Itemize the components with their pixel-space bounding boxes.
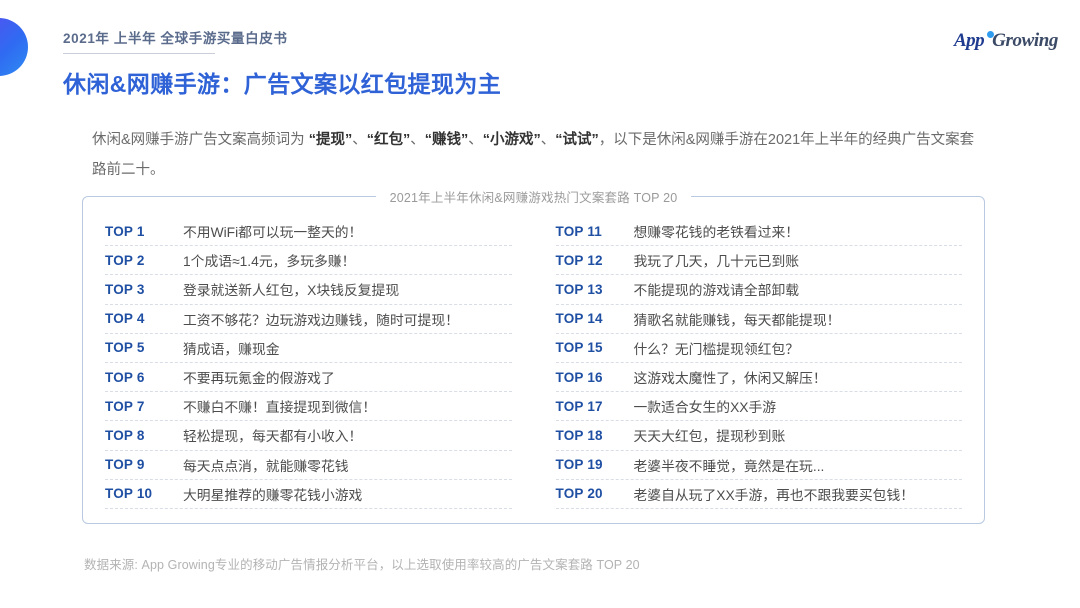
top20-copy-text: 什么？无门槛提现领红包？ <box>634 338 963 358</box>
top20-copy-text: 不要再玩氪金的假游戏了 <box>183 367 512 387</box>
top20-row: TOP 5猜成语，赚现金 <box>105 334 512 363</box>
top20-card-wrapper: 2021年上半年休闲&网赚游戏热门文案套路 TOP 20 TOP 1不用WiFi… <box>82 196 985 524</box>
card-legend-title: 2021年上半年休闲&网赚游戏热门文案套路 TOP 20 <box>376 187 692 206</box>
data-source-footnote: 数据来源: App Growing专业的移动广告情报分析平台，以上选取使用率较高… <box>84 554 640 573</box>
top20-rank-label: TOP 3 <box>105 282 183 297</box>
report-kicker: 2021年 上半年 全球手游买量白皮书 <box>63 27 943 47</box>
top20-rank-label: TOP 12 <box>556 253 634 268</box>
top20-copy-text: 猜歌名就能赚钱，每天都能提现！ <box>634 309 963 329</box>
intro-sep-3: 、 <box>468 132 483 148</box>
top20-copy-text: 每天点点消，就能赚零花钱 <box>183 455 512 475</box>
intro-sep-2: 、 <box>410 132 425 148</box>
intro-keyword-1: “提现” <box>309 132 353 148</box>
top20-columns: TOP 1不用WiFi都可以玩一整天的！TOP 21个成语≈1.4元，多玩多赚！… <box>105 217 962 509</box>
top20-rank-label: TOP 10 <box>105 486 183 501</box>
logo-growing-text: Growing <box>992 30 1058 52</box>
top20-row: TOP 12我玩了几天，几十元已到账 <box>556 246 963 275</box>
top20-row: TOP 1不用WiFi都可以玩一整天的！ <box>105 217 512 246</box>
top20-rank-label: TOP 5 <box>105 340 183 355</box>
top20-row: TOP 18天天大红包，提现秒到账 <box>556 421 963 450</box>
top20-row: TOP 19老婆半夜不睡觉，竟然是在玩... <box>556 451 963 480</box>
logo-app-text: App <box>954 30 984 52</box>
top20-row: TOP 16这游戏太魔性了，休闲又解压！ <box>556 363 963 392</box>
top20-copy-text: 不能提现的游戏请全部卸载 <box>634 279 963 299</box>
intro-sep-4: 、 <box>541 132 556 148</box>
top20-copy-text: 大明星推荐的赚零花钱小游戏 <box>183 484 512 504</box>
top20-row: TOP 8轻松提现，每天都有小收入！ <box>105 421 512 450</box>
top20-row: TOP 17一款适合女生的XX手游 <box>556 392 963 421</box>
top20-row: TOP 3登录就送新人红包，X块钱反复提现 <box>105 275 512 304</box>
intro-lead: 休闲&网赚手游广告文案高频词为 <box>92 132 305 148</box>
top20-rank-label: TOP 8 <box>105 428 183 443</box>
top20-copy-text: 登录就送新人红包，X块钱反复提现 <box>183 279 512 299</box>
top20-rank-label: TOP 13 <box>556 282 634 297</box>
top20-row: TOP 20老婆自从玩了XX手游，再也不跟我要买包钱！ <box>556 480 963 509</box>
top20-copy-text: 不赚白不赚！直接提现到微信！ <box>183 396 512 416</box>
top20-rank-label: TOP 15 <box>556 340 634 355</box>
top20-row: TOP 6不要再玩氪金的假游戏了 <box>105 363 512 392</box>
top20-rank-label: TOP 18 <box>556 428 634 443</box>
kicker-divider <box>63 53 215 54</box>
top20-rank-label: TOP 7 <box>105 399 183 414</box>
top20-copy-text: 天天大红包，提现秒到账 <box>634 425 963 445</box>
top20-row: TOP 15什么？无门槛提现领红包？ <box>556 334 963 363</box>
top20-copy-text: 一款适合女生的XX手游 <box>634 396 963 416</box>
top20-rank-label: TOP 4 <box>105 311 183 326</box>
top20-row: TOP 10大明星推荐的赚零花钱小游戏 <box>105 480 512 509</box>
top20-rank-label: TOP 16 <box>556 370 634 385</box>
top20-right-column: TOP 11想赚零花钱的老铁看过来！TOP 12我玩了几天，几十元已到账TOP … <box>556 217 963 509</box>
top20-copy-text: 工资不够花？边玩游戏边赚钱，随时可提现！ <box>183 309 512 329</box>
decorative-gradient-circle <box>0 18 28 76</box>
top20-rank-label: TOP 11 <box>556 224 634 239</box>
intro-keyword-3: “赚钱” <box>425 132 469 148</box>
top20-row: TOP 9每天点点消，就能赚零花钱 <box>105 451 512 480</box>
top20-rank-label: TOP 6 <box>105 370 183 385</box>
top20-row: TOP 4工资不够花？边玩游戏边赚钱，随时可提现！ <box>105 305 512 334</box>
top20-row: TOP 11想赚零花钱的老铁看过来！ <box>556 217 963 246</box>
top20-copy-text: 1个成语≈1.4元，多玩多赚！ <box>183 250 512 270</box>
top20-copy-text: 老婆半夜不睡觉，竟然是在玩... <box>634 455 963 475</box>
top20-card: TOP 1不用WiFi都可以玩一整天的！TOP 21个成语≈1.4元，多玩多赚！… <box>82 196 985 524</box>
intro-keyword-4: “小游戏” <box>483 132 541 148</box>
intro-sep-1: 、 <box>352 132 367 148</box>
top20-left-column: TOP 1不用WiFi都可以玩一整天的！TOP 21个成语≈1.4元，多玩多赚！… <box>105 217 512 509</box>
intro-paragraph: 休闲&网赚手游广告文案高频词为 “提现”、“红包”、“赚钱”、“小游戏”、“试试… <box>92 125 987 185</box>
top20-rank-label: TOP 9 <box>105 457 183 472</box>
top20-row: TOP 13不能提现的游戏请全部卸载 <box>556 275 963 304</box>
top20-rank-label: TOP 20 <box>556 486 634 501</box>
top20-rank-label: TOP 19 <box>556 457 634 472</box>
top20-copy-text: 猜成语，赚现金 <box>183 338 512 358</box>
page-title: 休闲&网赚手游：广告文案以红包提现为主 <box>63 65 943 99</box>
top20-row: TOP 14猜歌名就能赚钱，每天都能提现！ <box>556 305 963 334</box>
top20-rank-label: TOP 14 <box>556 311 634 326</box>
intro-keyword-2: “红包” <box>367 132 411 148</box>
top20-copy-text: 我玩了几天，几十元已到账 <box>634 250 963 270</box>
top20-copy-text: 想赚零花钱的老铁看过来！ <box>634 221 963 241</box>
top20-copy-text: 这游戏太魔性了，休闲又解压！ <box>634 367 963 387</box>
top20-row: TOP 21个成语≈1.4元，多玩多赚！ <box>105 246 512 275</box>
app-growing-logo: App Growing <box>954 30 1058 52</box>
top20-rank-label: TOP 2 <box>105 253 183 268</box>
top20-copy-text: 轻松提现，每天都有小收入！ <box>183 425 512 445</box>
slide-header: 2021年 上半年 全球手游买量白皮书 休闲&网赚手游：广告文案以红包提现为主 <box>63 27 943 114</box>
top20-copy-text: 不用WiFi都可以玩一整天的！ <box>183 221 512 241</box>
intro-keyword-5: “试试” <box>555 132 599 148</box>
top20-rank-label: TOP 1 <box>105 224 183 239</box>
top20-rank-label: TOP 17 <box>556 399 634 414</box>
top20-copy-text: 老婆自从玩了XX手游，再也不跟我要买包钱！ <box>634 484 963 504</box>
top20-row: TOP 7不赚白不赚！直接提现到微信！ <box>105 392 512 421</box>
